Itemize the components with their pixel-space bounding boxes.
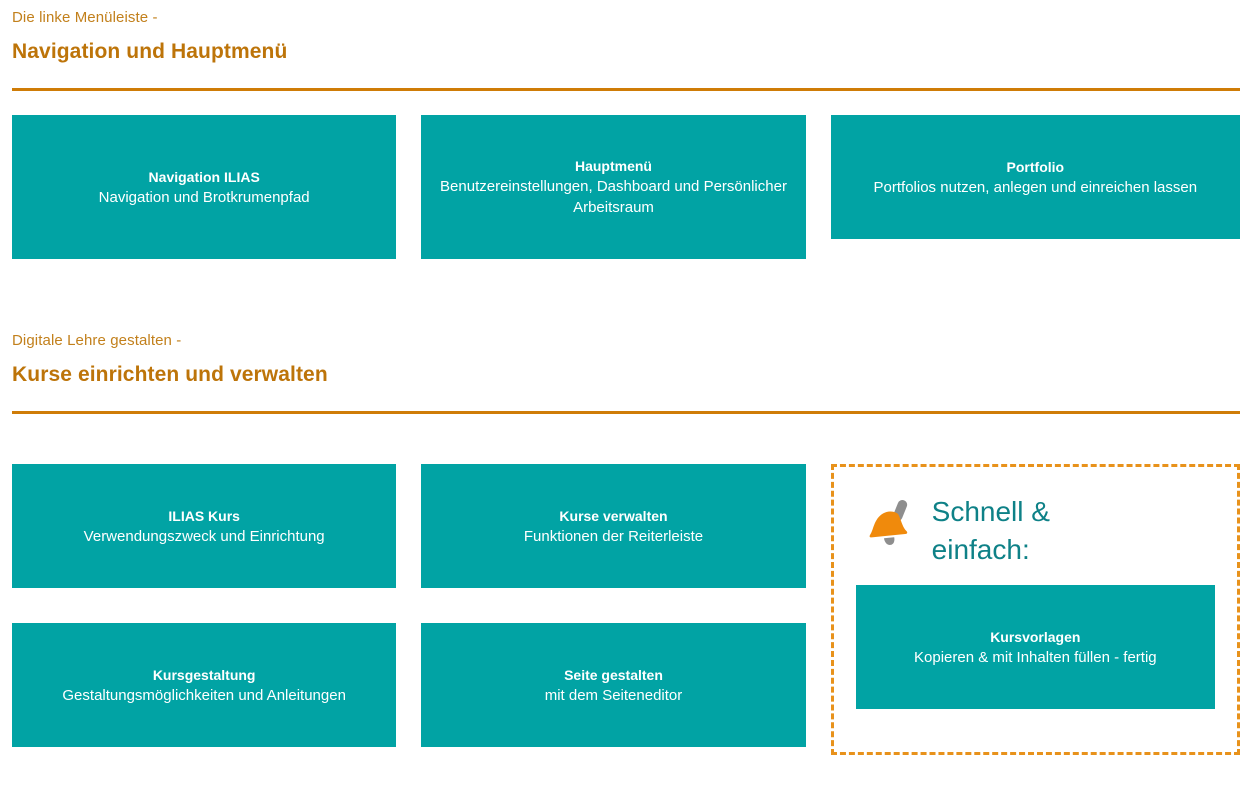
tile-subtitle: Kopieren & mit Inhalten füllen - fertig: [914, 647, 1157, 668]
grid-column: Hauptmenü Benutzereinstellungen, Dashboa…: [421, 115, 830, 259]
section2-spacer: [0, 414, 1252, 464]
bell-icon: [864, 497, 916, 555]
tile-subtitle: Benutzereinstellungen, Dashboard und Per…: [435, 176, 791, 218]
tile-gap: [12, 588, 396, 623]
section-header-kurse: Digitale Lehre gestalten - Kurse einrich…: [0, 331, 1252, 414]
between-sections-spacer: [0, 259, 1252, 331]
top-spacer: [0, 0, 1252, 8]
tile-subtitle: Navigation und Brotkrumenpfad: [99, 187, 310, 208]
tile-subtitle: Portfolios nutzen, anlegen und einreiche…: [874, 177, 1198, 198]
tile-kursgestaltung[interactable]: Kursgestaltung Gestaltungsmöglichkeiten …: [12, 623, 396, 747]
tile-subtitle: Verwendungszweck und Einrichtung: [84, 526, 325, 547]
tile-hauptmenue[interactable]: Hauptmenü Benutzereinstellungen, Dashboa…: [421, 115, 805, 259]
tile-subtitle: Funktionen der Reiterleiste: [524, 526, 703, 547]
section-headline: Navigation und Hauptmenü: [12, 38, 1240, 66]
tile-subtitle: mit dem Seiteneditor: [545, 685, 683, 706]
tile-gap: [421, 588, 805, 623]
tile-title: Hauptmenü: [575, 156, 652, 176]
tile-title: ILIAS Kurs: [168, 506, 240, 526]
section-header-navigation: Die linke Menüleiste - Navigation und Ha…: [0, 8, 1252, 91]
section-kicker: Die linke Menüleiste -: [12, 8, 1240, 28]
tile-title: Kursvorlagen: [990, 627, 1080, 647]
tile-portfolio[interactable]: Portfolio Portfolios nutzen, anlegen und…: [831, 115, 1240, 239]
grid-column: ILIAS Kurs Verwendungszweck und Einricht…: [12, 464, 421, 755]
tile-kursvorlagen[interactable]: Kursvorlagen Kopieren & mit Inhalten fül…: [856, 585, 1215, 709]
tile-navigation-ilias[interactable]: Navigation ILIAS Navigation und Brotkrum…: [12, 115, 396, 259]
page-root: Die linke Menüleiste - Navigation und Ha…: [0, 0, 1252, 789]
tile-title: Navigation ILIAS: [149, 167, 260, 187]
tile-title: Kursgestaltung: [153, 665, 256, 685]
tile-ilias-kurs[interactable]: ILIAS Kurs Verwendungszweck und Einricht…: [12, 464, 396, 588]
grid-column: Portfolio Portfolios nutzen, anlegen und…: [831, 115, 1240, 259]
tile-title: Kurse verwalten: [559, 506, 667, 526]
tile-title: Seite gestalten: [564, 665, 663, 685]
section-kicker: Digitale Lehre gestalten -: [12, 331, 1240, 351]
tile-title: Portfolio: [1007, 157, 1065, 177]
tile-grid-navigation: Navigation ILIAS Navigation und Brotkrum…: [0, 115, 1252, 259]
section-headline: Kurse einrichten und verwalten: [12, 361, 1240, 389]
grid-column: Schnell & einfach: Kursvorlagen Kopieren…: [831, 464, 1240, 755]
tile-kurse-verwalten[interactable]: Kurse verwalten Funktionen der Reiterlei…: [421, 464, 805, 588]
grid-column: Navigation ILIAS Navigation und Brotkrum…: [12, 115, 421, 259]
highlight-header: Schnell & einfach:: [856, 493, 1215, 569]
highlight-box-schnell-einfach: Schnell & einfach: Kursvorlagen Kopieren…: [831, 464, 1240, 755]
tile-subtitle: Gestaltungsmöglichkeiten und Anleitungen: [62, 685, 346, 706]
highlight-title: Schnell & einfach:: [932, 493, 1102, 569]
tile-seite-gestalten[interactable]: Seite gestalten mit dem Seiteneditor: [421, 623, 805, 747]
grid-column: Kurse verwalten Funktionen der Reiterlei…: [421, 464, 830, 755]
section1-spacer: [0, 91, 1252, 115]
tile-grid-kurse: ILIAS Kurs Verwendungszweck und Einricht…: [0, 464, 1252, 755]
